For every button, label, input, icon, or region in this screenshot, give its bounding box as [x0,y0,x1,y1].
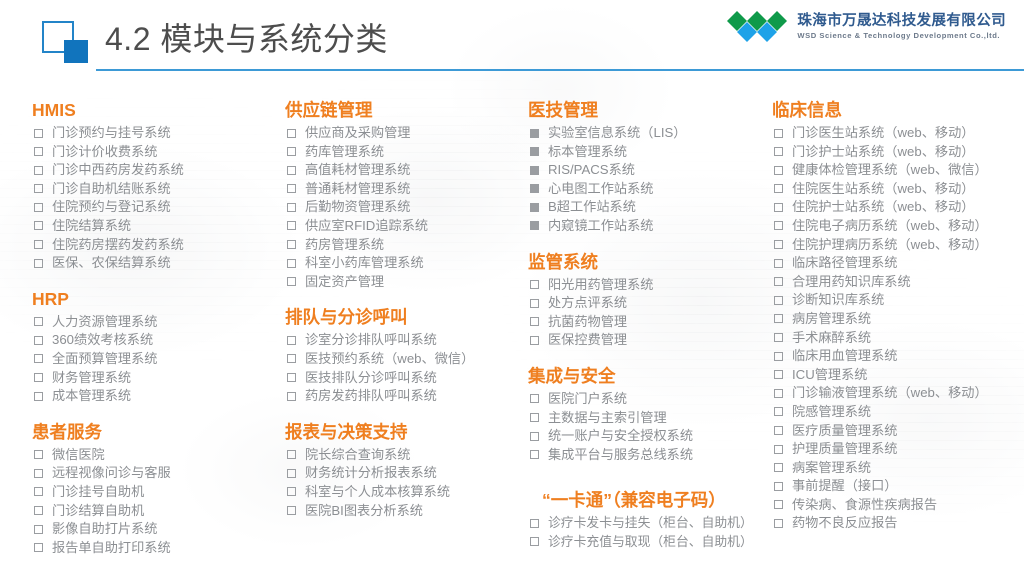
list-item-label: 门诊医生站系统（web、移动） [792,124,974,143]
list-item-label: 门诊挂号自助机 [52,483,144,502]
list-item-label: 集成平台与服务总线系统 [548,446,693,465]
list-item[interactable]: 门诊中西药房发药系统 [32,161,274,180]
hollow-square-bullet-icon [530,537,539,546]
hollow-square-bullet-icon [287,487,296,496]
list-item[interactable]: 住院药房摆药发药系统 [32,236,274,255]
item-list-patient-service: 微信医院远程视像问诊与客服门诊挂号自助机门诊结算自助机影像自助打片系统报告单自助… [32,446,274,558]
list-item-label: 普通耗材管理系统 [305,180,411,199]
square-filled-icon [64,40,88,63]
list-item-label: 病房管理系统 [792,310,871,329]
list-item[interactable]: 人力资源管理系统 [32,313,274,332]
group-title-supply-chain: 供应链管理 [285,100,523,121]
list-item-label: 医疗质量管理系统 [792,422,898,441]
list-item[interactable]: 诊疗卡充值与取现（柜台、自助机） [528,533,768,552]
group-title-supervision: 监管系统 [528,252,768,273]
list-item[interactable]: 诊室分诊排队呼叫系统 [285,331,523,350]
list-item[interactable]: 健康体检管理系统（web、微信） [772,161,1024,180]
column-3: 医技管理实验室信息系统（LIS）标本管理系统RIS/PACS系统心电图工作站系统… [528,100,768,568]
list-item[interactable]: 高值耗材管理系统 [285,161,523,180]
list-item[interactable]: 医技排队分诊呼叫系统 [285,369,523,388]
list-item[interactable]: 内窥镜工作站系统 [528,217,768,236]
column-4: 临床信息门诊医生站系统（web、移动）门诊护士站系统（web、移动）健康体检管理… [772,100,1024,549]
list-item[interactable]: 处方点评系统 [528,294,768,313]
list-item[interactable]: 成本管理系统 [32,387,274,406]
list-item[interactable]: 临床用血管理系统 [772,347,1024,366]
list-item[interactable]: 实验室信息系统（LIS） [528,124,768,143]
list-item[interactable]: 事前提醒（接口） [772,477,1024,496]
list-item-label: 人力资源管理系统 [52,313,158,332]
list-item-label: 后勤物资管理系统 [305,198,411,217]
list-item[interactable]: 财务管理系统 [32,369,274,388]
hollow-square-bullet-icon [34,259,43,268]
list-item-label: 主数据与主索引管理 [548,409,667,428]
list-item-label: 门诊计价收费系统 [52,143,158,162]
list-item[interactable]: 住院护士站系统（web、移动） [772,198,1024,217]
hollow-square-bullet-icon [34,147,43,156]
list-item-label: 报告单自助打印系统 [52,539,171,558]
list-item[interactable]: 门诊结算自助机 [32,502,274,521]
hollow-square-bullet-icon [287,129,296,138]
list-item[interactable]: 医技预约系统（web、微信） [285,350,523,369]
list-item-label: 住院医生站系统（web、移动） [792,180,974,199]
hollow-square-bullet-icon [287,221,296,230]
hollow-square-bullet-icon [287,336,296,345]
list-item[interactable]: 住院预约与登记系统 [32,198,274,217]
hollow-square-bullet-icon [774,333,783,342]
hollow-square-bullet-icon [287,166,296,175]
list-item-label: 科室小药库管理系统 [305,254,424,273]
list-item-label: 诊断知识库系统 [792,291,884,310]
list-item-label: 医技排队分诊呼叫系统 [305,369,437,388]
list-item-label: 阳光用药管理系统 [548,276,654,295]
list-item-label: 门诊中西药房发药系统 [52,161,184,180]
list-item[interactable]: 医院BI图表分析系统 [285,502,523,521]
list-item-label: 微信医院 [52,446,105,465]
list-item[interactable]: 科室与个人成本核算系统 [285,483,523,502]
item-list-supervision: 阳光用药管理系统处方点评系统抗菌药物管理医保控费管理 [528,276,768,350]
list-item-label: 门诊输液管理系统（web、移动） [792,384,988,403]
hollow-square-bullet-icon [287,373,296,382]
list-item-label: 住院护理病历系统（web、移动） [792,236,988,255]
group-one-card: “一卡通”（兼容电子码）诊疗卡发卡与挂失（柜台、自助机）诊疗卡充值与取现（柜台、… [528,490,768,551]
filled-square-bullet-icon [530,147,539,156]
list-item[interactable]: 供应室RFID追踪系统 [285,217,523,236]
list-item-label: 医保控费管理 [548,331,627,350]
hollow-square-bullet-icon [34,203,43,212]
list-item[interactable]: 住院护理病历系统（web、移动） [772,236,1024,255]
hollow-square-bullet-icon [774,500,783,509]
hollow-square-bullet-icon [287,240,296,249]
list-item[interactable]: 门诊医生站系统（web、移动） [772,124,1024,143]
company-name-cn: 珠海市万晟达科技发展有限公司 [797,14,1006,30]
hollow-square-bullet-icon [287,469,296,478]
hollow-square-bullet-icon [34,392,43,401]
hollow-square-bullet-icon [34,129,43,138]
group-title-one-card: “一卡通”（兼容电子码） [542,490,768,511]
list-item-label: 手术麻醉系统 [792,329,871,348]
hollow-square-bullet-icon [34,336,43,345]
hollow-square-bullet-icon [774,277,783,286]
list-item-label: 财务统计分析报表系统 [305,464,437,483]
list-item[interactable]: 医疗质量管理系统 [772,422,1024,441]
hollow-square-bullet-icon [774,463,783,472]
list-item-label: 药物不良反应报告 [792,514,898,533]
hollow-square-bullet-icon [34,240,43,249]
list-item[interactable]: 固定资产管理 [285,273,523,292]
list-item[interactable]: 阳光用药管理系统 [528,276,768,295]
list-item-label: 护理质量管理系统 [792,440,898,459]
list-item[interactable]: 医保、农保结算系统 [32,254,274,273]
list-item[interactable]: 门诊自助机结账系统 [32,180,274,199]
hollow-square-bullet-icon [774,389,783,398]
hollow-square-bullet-icon [34,317,43,326]
list-item-label: 科室与个人成本核算系统 [305,483,450,502]
list-item[interactable]: 药库管理系统 [285,143,523,162]
filled-square-bullet-icon [530,203,539,212]
item-list-hrp: 人力资源管理系统360绩效考核系统全面预算管理系统财务管理系统成本管理系统 [32,313,274,406]
hollow-square-bullet-icon [34,450,43,459]
hollow-square-bullet-icon [530,299,539,308]
hollow-square-bullet-icon [287,203,296,212]
list-item-label: 诊疗卡发卡与挂失（柜台、自助机） [548,514,753,533]
list-item-label: 内窥镜工作站系统 [548,217,654,236]
slide-header: 4.2 模块与系统分类 珠海市万晟达科技发展有限公司 WSD Science &… [0,0,1024,78]
list-item[interactable]: 传染病、食源性疾病报告 [772,496,1024,515]
title-divider [96,69,1024,71]
group-title-report-decision: 报表与决策支持 [285,422,523,443]
list-item[interactable]: ICU管理系统 [772,366,1024,385]
group-title-medical-tech: 医技管理 [528,100,768,121]
list-item-label: 药库管理系统 [305,143,384,162]
list-item-label: 门诊护士站系统（web、移动） [792,143,974,162]
hollow-square-bullet-icon [774,203,783,212]
filled-square-bullet-icon [530,221,539,230]
list-item[interactable]: 门诊挂号自助机 [32,483,274,502]
list-item[interactable]: 门诊输液管理系统（web、移动） [772,384,1024,403]
group-title-clinical-info: 临床信息 [772,100,1024,121]
list-item[interactable]: 护理质量管理系统 [772,440,1024,459]
hollow-square-bullet-icon [287,450,296,459]
hollow-square-bullet-icon [287,506,296,515]
list-item[interactable]: 门诊护士站系统（web、移动） [772,143,1024,162]
list-item-label: 事前提醒（接口） [792,477,898,496]
list-item-label: 临床用血管理系统 [792,347,898,366]
list-item-label: ICU管理系统 [792,366,867,385]
list-item[interactable]: 微信医院 [32,446,274,465]
list-item-label: 诊疗卡充值与取现（柜台、自助机） [548,533,753,552]
list-item[interactable]: 报告单自助打印系统 [32,539,274,558]
list-item[interactable]: 集成平台与服务总线系统 [528,446,768,465]
hollow-square-bullet-icon [34,506,43,515]
list-item-label: 抗菌药物管理 [548,313,627,332]
list-item-label: 药房发药排队呼叫系统 [305,387,437,406]
list-item-label: 病案管理系统 [792,459,871,478]
group-supply-chain: 供应链管理供应商及采购管理药库管理系统高值耗材管理系统普通耗材管理系统后勤物资管… [285,100,523,291]
list-item[interactable]: 住院结算系统 [32,217,274,236]
list-item-label: 医院门户系统 [548,390,627,409]
list-item[interactable]: 药房管理系统 [285,236,523,255]
list-item[interactable]: 手术麻醉系统 [772,329,1024,348]
filled-square-bullet-icon [530,129,539,138]
list-item[interactable]: 科室小药库管理系统 [285,254,523,273]
list-item[interactable]: 主数据与主索引管理 [528,409,768,428]
hollow-square-bullet-icon [774,147,783,156]
group-medical-tech: 医技管理实验室信息系统（LIS）标本管理系统RIS/PACS系统心电图工作站系统… [528,100,768,236]
list-item[interactable]: 诊疗卡发卡与挂失（柜台、自助机） [528,514,768,533]
list-item-label: 财务管理系统 [52,369,131,388]
hollow-square-bullet-icon [530,280,539,289]
hollow-square-bullet-icon [774,166,783,175]
item-list-report-decision: 院长综合查询系统财务统计分析报表系统科室与个人成本核算系统医院BI图表分析系统 [285,446,523,520]
group-hrp: HRP人力资源管理系统360绩效考核系统全面预算管理系统财务管理系统成本管理系统 [32,289,274,406]
list-item[interactable]: 药房发药排队呼叫系统 [285,387,523,406]
list-item[interactable]: 医保控费管理 [528,331,768,350]
page-title: 4.2 模块与系统分类 [105,14,388,60]
list-item[interactable]: 影像自助打片系统 [32,520,274,539]
company-logo: 珠海市万晟达科技发展有限公司 WSD Science & Technology … [726,9,1006,45]
list-item-label: 住院药房摆药发药系统 [52,236,184,255]
list-item[interactable]: 统一账户与安全授权系统 [528,427,768,446]
list-item[interactable]: 门诊计价收费系统 [32,143,274,162]
group-title-patient-service: 患者服务 [32,422,274,443]
hollow-square-bullet-icon [774,314,783,323]
list-item[interactable]: 院长综合查询系统 [285,446,523,465]
item-list-supply-chain: 供应商及采购管理药库管理系统高值耗材管理系统普通耗材管理系统后勤物资管理系统供应… [285,124,523,291]
list-item[interactable]: 住院电子病历系统（web、移动） [772,217,1024,236]
group-patient-service: 患者服务微信医院远程视像问诊与客服门诊挂号自助机门诊结算自助机影像自助打片系统报… [32,422,274,558]
list-item-label: 供应室RFID追踪系统 [305,217,428,236]
hollow-square-bullet-icon [287,392,296,401]
list-item-label: 院感管理系统 [792,403,871,422]
hollow-square-bullet-icon [530,413,539,422]
group-title-integration-security: 集成与安全 [528,366,768,387]
list-item-label: 传染病、食源性疾病报告 [792,496,937,515]
list-item-label: 统一账户与安全授权系统 [548,427,693,446]
column-2: 供应链管理供应商及采购管理药库管理系统高值耗材管理系统普通耗材管理系统后勤物资管… [285,100,523,536]
list-item-label: 诊室分诊排队呼叫系统 [305,331,437,350]
list-item-label: 远程视像问诊与客服 [52,464,171,483]
hollow-square-bullet-icon [530,336,539,345]
list-item[interactable]: 合理用药知识库系统 [772,273,1024,292]
hollow-square-bullet-icon [34,221,43,230]
group-title-hmis: HMIS [32,100,274,121]
list-item[interactable]: 病房管理系统 [772,310,1024,329]
list-item[interactable]: 住院医生站系统（web、移动） [772,180,1024,199]
list-item-label: 合理用药知识库系统 [792,273,911,292]
list-item[interactable]: 抗菌药物管理 [528,313,768,332]
hollow-square-bullet-icon [774,259,783,268]
list-item-label: 全面预算管理系统 [52,350,158,369]
hollow-square-bullet-icon [774,129,783,138]
hollow-square-bullet-icon [287,147,296,156]
group-report-decision: 报表与决策支持院长综合查询系统财务统计分析报表系统科室与个人成本核算系统医院BI… [285,422,523,520]
list-item-label: 药房管理系统 [305,236,384,255]
list-item-label: 门诊自助机结账系统 [52,180,171,199]
list-item[interactable]: 药物不良反应报告 [772,514,1024,533]
item-list-one-card: 诊疗卡发卡与挂失（柜台、自助机）诊疗卡充值与取现（柜台、自助机） [528,514,768,551]
list-item-label: 住院结算系统 [52,217,131,236]
list-item[interactable]: 360绩效考核系统 [32,331,274,350]
content-columns: HMIS门诊预约与挂号系统门诊计价收费系统门诊中西药房发药系统门诊自助机结账系统… [0,100,1024,576]
group-integration-security: 集成与安全医院门户系统主数据与主索引管理统一账户与安全授权系统集成平台与服务总线… [528,366,768,464]
filled-square-bullet-icon [530,184,539,193]
company-logo-text: 珠海市万晟达科技发展有限公司 WSD Science & Technology … [797,14,1006,40]
list-item-label: 临床路径管理系统 [792,254,898,273]
list-item-label: B超工作站系统 [548,198,636,217]
wsd-diamond-logo-icon [726,9,788,45]
hollow-square-bullet-icon [774,519,783,528]
hollow-square-bullet-icon [774,426,783,435]
hollow-square-bullet-icon [34,354,43,363]
list-item-label: 固定资产管理 [305,273,384,292]
list-item-label: 健康体检管理系统（web、微信） [792,161,988,180]
list-item-label: 360绩效考核系统 [52,331,153,350]
list-item-label: 心电图工作站系统 [548,180,654,199]
item-list-hmis: 门诊预约与挂号系统门诊计价收费系统门诊中西药房发药系统门诊自助机结账系统住院预约… [32,124,274,273]
list-item[interactable]: 全面预算管理系统 [32,350,274,369]
hollow-square-bullet-icon [774,221,783,230]
list-item-label: 标本管理系统 [548,143,627,162]
item-list-queue-triage: 诊室分诊排队呼叫系统医技预约系统（web、微信）医技排队分诊呼叫系统药房发药排队… [285,331,523,405]
list-item-label: 处方点评系统 [548,294,627,313]
list-item[interactable]: 普通耗材管理系统 [285,180,523,199]
list-item[interactable]: B超工作站系统 [528,198,768,217]
list-item-label: 院长综合查询系统 [305,446,411,465]
list-item[interactable]: 诊断知识库系统 [772,291,1024,310]
hollow-square-bullet-icon [287,184,296,193]
column-1: HMIS门诊预约与挂号系统门诊计价收费系统门诊中西药房发药系统门诊自助机结账系统… [32,100,274,573]
list-item-label: 门诊结算自助机 [52,502,144,521]
list-item[interactable]: 后勤物资管理系统 [285,198,523,217]
hollow-square-bullet-icon [774,352,783,361]
list-item[interactable]: 心电图工作站系统 [528,180,768,199]
hollow-square-bullet-icon [530,519,539,528]
hollow-square-bullet-icon [530,317,539,326]
list-item-label: 住院预约与登记系统 [52,198,171,217]
group-queue-triage: 排队与分诊呼叫诊室分诊排队呼叫系统医技预约系统（web、微信）医技排队分诊呼叫系… [285,307,523,405]
list-item-label: 成本管理系统 [52,387,131,406]
list-item-label: 医保、农保结算系统 [52,254,171,273]
list-item-label: 高值耗材管理系统 [305,161,411,180]
list-item-label: 门诊预约与挂号系统 [52,124,171,143]
list-item[interactable]: 远程视像问诊与客服 [32,464,274,483]
group-title-queue-triage: 排队与分诊呼叫 [285,307,523,328]
hollow-square-bullet-icon [530,432,539,441]
list-item[interactable]: 医院门户系统 [528,390,768,409]
list-item-label: 供应商及采购管理 [305,124,411,143]
group-title-hrp: HRP [32,289,274,310]
slide: 4.2 模块与系统分类 珠海市万晟达科技发展有限公司 WSD Science &… [0,0,1024,576]
list-item[interactable]: 标本管理系统 [528,143,768,162]
hollow-square-bullet-icon [34,525,43,534]
hollow-square-bullet-icon [774,296,783,305]
hollow-square-bullet-icon [34,543,43,552]
list-item[interactable]: RIS/PACS系统 [528,161,768,180]
list-item[interactable]: 病案管理系统 [772,459,1024,478]
hollow-square-bullet-icon [34,487,43,496]
title-square-mark-icon [42,21,88,63]
item-list-integration-security: 医院门户系统主数据与主索引管理统一账户与安全授权系统集成平台与服务总线系统 [528,390,768,464]
list-item-label: RIS/PACS系统 [548,161,635,180]
item-list-clinical-info: 门诊医生站系统（web、移动）门诊护士站系统（web、移动）健康体检管理系统（w… [772,124,1024,533]
filled-square-bullet-icon [530,166,539,175]
list-item[interactable]: 财务统计分析报表系统 [285,464,523,483]
list-item[interactable]: 门诊预约与挂号系统 [32,124,274,143]
group-clinical-info: 临床信息门诊医生站系统（web、移动）门诊护士站系统（web、移动）健康体检管理… [772,100,1024,533]
group-supervision: 监管系统阳光用药管理系统处方点评系统抗菌药物管理医保控费管理 [528,252,768,350]
hollow-square-bullet-icon [287,259,296,268]
company-name-en: WSD Science & Technology Development Co.… [797,32,1006,40]
hollow-square-bullet-icon [287,277,296,286]
hollow-square-bullet-icon [774,370,783,379]
list-item-label: 医院BI图表分析系统 [305,502,423,521]
list-item[interactable]: 院感管理系统 [772,403,1024,422]
list-item[interactable]: 临床路径管理系统 [772,254,1024,273]
list-item[interactable]: 供应商及采购管理 [285,124,523,143]
list-item-label: 住院电子病历系统（web、移动） [792,217,988,236]
hollow-square-bullet-icon [34,166,43,175]
item-list-medical-tech: 实验室信息系统（LIS）标本管理系统RIS/PACS系统心电图工作站系统B超工作… [528,124,768,236]
hollow-square-bullet-icon [530,450,539,459]
list-item-label: 医技预约系统（web、微信） [305,350,474,369]
group-hmis: HMIS门诊预约与挂号系统门诊计价收费系统门诊中西药房发药系统门诊自助机结账系统… [32,100,274,273]
hollow-square-bullet-icon [774,184,783,193]
list-item-label: 住院护士站系统（web、移动） [792,198,974,217]
hollow-square-bullet-icon [774,482,783,491]
list-item-label: 影像自助打片系统 [52,520,158,539]
hollow-square-bullet-icon [774,407,783,416]
list-item-label: 实验室信息系统（LIS） [548,124,686,143]
hollow-square-bullet-icon [774,240,783,249]
hollow-square-bullet-icon [287,354,296,363]
hollow-square-bullet-icon [774,445,783,454]
hollow-square-bullet-icon [34,184,43,193]
hollow-square-bullet-icon [34,373,43,382]
hollow-square-bullet-icon [530,394,539,403]
hollow-square-bullet-icon [34,469,43,478]
